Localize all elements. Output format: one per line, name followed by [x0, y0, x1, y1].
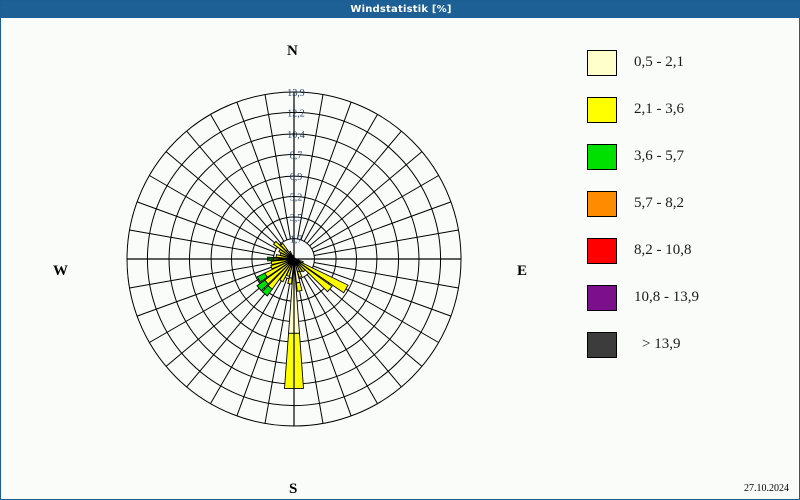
legend-swatch [587, 97, 617, 123]
legend-label: 0,5 - 2,1 [634, 54, 684, 71]
grid-spoke [130, 230, 274, 255]
radial-tick-label: 6,9 [290, 172, 303, 183]
legend-item[interactable]: 10,8 - 13,9 [587, 274, 792, 321]
radial-tick-labels: 1,73,55,26,98,710,412,213,9 [287, 88, 305, 246]
legend-label: 3,6 - 5,7 [634, 148, 684, 165]
legend-label: 8,2 - 10,8 [634, 242, 692, 259]
grid-spoke [301, 278, 351, 416]
speed-bin-legend: 0,5 - 2,12,1 - 3,63,6 - 5,75,7 - 8,28,2 … [587, 39, 792, 368]
wind-statistics-window: Windstatistik [%] 1,73,55,26,98,710,412,… [0, 0, 800, 500]
legend-label: 10,8 - 13,9 [634, 289, 699, 306]
wind-rose-petal-segment [296, 282, 302, 291]
radial-tick-label: 5,2 [290, 193, 303, 204]
grid-spoke [211, 277, 284, 404]
wind-rose-svg: 1,73,55,26,98,710,412,213,9 [1, 19, 561, 500]
legend-swatch [587, 285, 617, 311]
grid-spoke [307, 131, 401, 243]
grid-spoke [301, 102, 351, 240]
chart-date: 27.10.2024 [744, 483, 789, 494]
legend-swatch [587, 332, 617, 358]
grid-spoke [313, 202, 451, 252]
grid-spoke [265, 279, 290, 423]
legend-label: 5,7 - 8,2 [634, 195, 684, 212]
legend-swatch [587, 144, 617, 170]
wind-rose-plot: 1,73,55,26,98,710,412,213,9 N S W E [1, 19, 561, 500]
compass-label-east: E [517, 263, 527, 280]
grid-spoke [137, 202, 275, 252]
legend-item[interactable]: 5,7 - 8,2 [587, 180, 792, 227]
radial-tick-label: 12,2 [287, 108, 305, 119]
legend-swatch [587, 238, 617, 264]
legend-label: > 13,9 [634, 336, 680, 353]
grid-spoke [237, 278, 287, 416]
grid-spoke [314, 230, 458, 255]
grid-spoke [307, 275, 401, 387]
legend-item[interactable]: 3,6 - 5,7 [587, 133, 792, 180]
radial-tick-label: 8,7 [290, 150, 303, 161]
grid-spoke [149, 269, 276, 342]
grid-spoke [187, 131, 281, 243]
grid-spoke [211, 114, 284, 241]
grid-spoke [149, 176, 276, 249]
grid-spoke [304, 114, 377, 241]
radial-tick-label: 3,5 [290, 213, 303, 224]
compass-label-north: N [287, 43, 298, 60]
legend-item[interactable]: 2,1 - 3,6 [587, 86, 792, 133]
radial-tick-label: 13,9 [287, 88, 305, 99]
grid-spoke [298, 279, 323, 423]
grid-spoke [313, 266, 451, 316]
legend-swatch [587, 191, 617, 217]
grid-spoke [130, 263, 274, 288]
legend-label: 2,1 - 3,6 [634, 101, 684, 118]
grid-spoke [137, 266, 275, 316]
compass-label-west: W [53, 263, 68, 280]
legend-swatch [587, 50, 617, 76]
legend-item[interactable]: > 13,9 [587, 321, 792, 368]
compass-label-south: S [289, 481, 297, 498]
legend-item[interactable]: 0,5 - 2,1 [587, 39, 792, 86]
legend-item[interactable]: 8,2 - 10,8 [587, 227, 792, 274]
radial-tick-label: 1,7 [290, 235, 303, 246]
wind-rose-petal-segment [293, 256, 294, 257]
grid-spoke [310, 152, 422, 246]
grid-spoke [304, 277, 377, 404]
polar-axis-lines [127, 92, 461, 426]
window-title: Windstatistik [%] [350, 4, 451, 15]
radial-tick-label: 10,4 [287, 130, 305, 141]
grid-spoke [312, 176, 439, 249]
window-titlebar: Windstatistik [%] [1, 1, 800, 18]
grid-spoke [237, 102, 287, 240]
grid-spoke [166, 152, 278, 246]
